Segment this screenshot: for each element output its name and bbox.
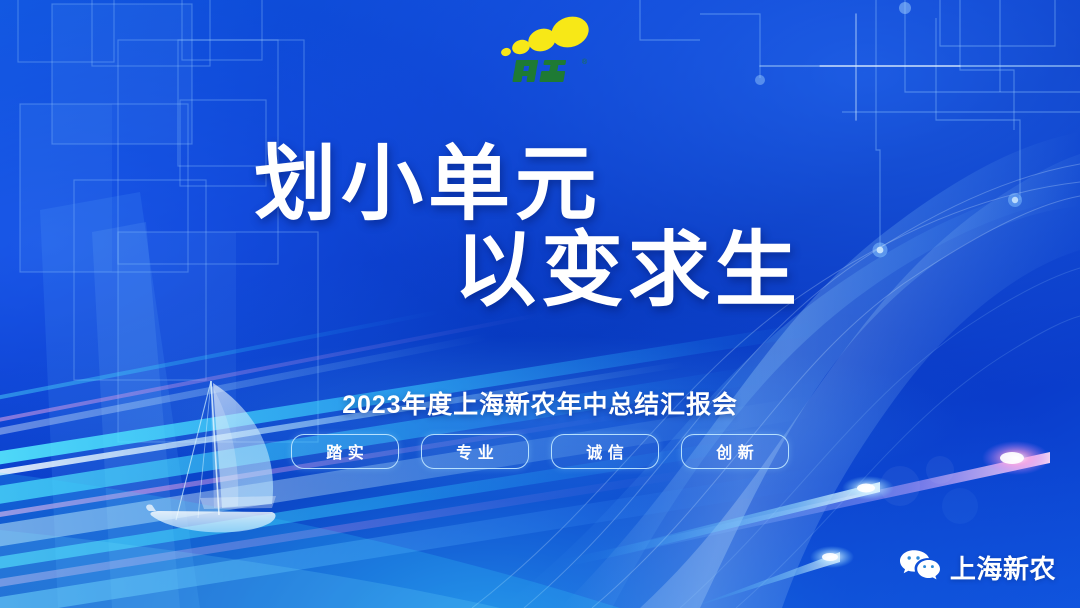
value-tag-2: 专业 [421,434,529,469]
title-line-1: 划小单元 [0,142,968,226]
xinnong-logo: ® [494,16,594,94]
wechat-icon [899,549,941,586]
title-line-2: 以变求生 [88,228,1080,312]
watermark-label: 上海新农 [950,549,1056,586]
value-tag-1: 踏实 [291,434,399,469]
poster-title: 划小单元 以变求生 [0,142,1080,313]
wechat-watermark: 上海新农 [899,549,1056,586]
value-tag-4: 创新 [681,434,789,469]
value-tag-3: 诚信 [551,434,659,469]
logo-registered-mark: ® [582,58,588,66]
value-tag-list: 踏实 专业 诚信 创新 [0,434,1080,469]
logo-dots [500,16,593,57]
poster-subtitle: 2023年度上海新农年中总结汇报会 [0,385,1080,421]
logo-wordmark [512,60,567,82]
poster-canvas: ® 划小单元 以变求生 2023年度上海新农年中总结汇报会 踏实 专业 诚信 创… [0,0,1080,608]
